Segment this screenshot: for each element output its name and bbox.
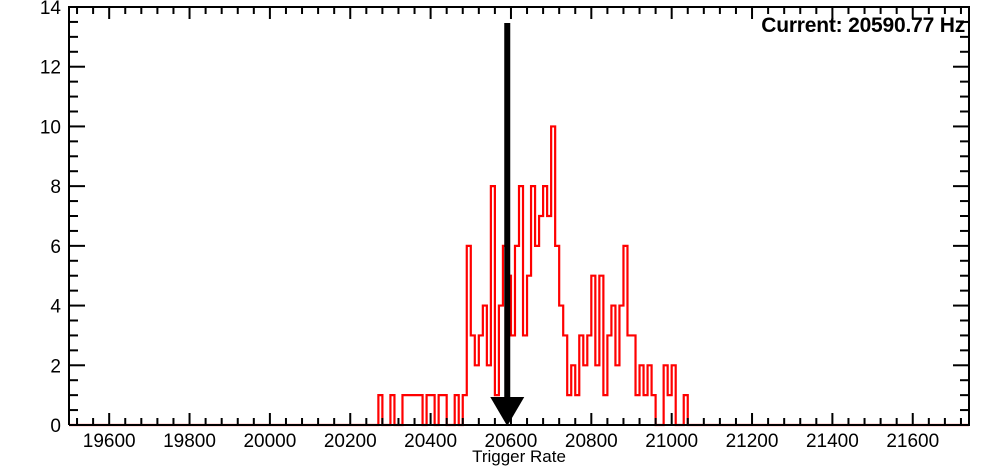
y-axis-tick-labels: 02468101214	[40, 0, 62, 437]
trigger-rate-histogram: 1960019800200002020020400206002080021000…	[0, 0, 996, 472]
x-tick-label: 20000	[243, 431, 296, 452]
histogram-canvas: 1960019800200002020020400206002080021000…	[0, 0, 996, 472]
y-tick-label: 0	[50, 416, 61, 437]
x-tick-label: 21200	[726, 431, 779, 452]
y-tick-label: 6	[50, 237, 61, 258]
y-tick-label: 8	[50, 177, 61, 198]
y-tick-label: 14	[40, 0, 62, 19]
x-tick-label: 20200	[324, 431, 377, 452]
y-tick-label: 2	[50, 356, 61, 377]
x-tick-label: 20800	[565, 431, 618, 452]
current-rate-label: Current: 20590.77 Hz	[761, 14, 965, 38]
x-tick-label: 21000	[645, 431, 698, 452]
y-tick-label: 10	[40, 117, 61, 138]
x-tick-label: 21400	[806, 431, 859, 452]
x-tick-label: 20400	[404, 431, 457, 452]
x-tick-label: 19800	[163, 431, 216, 452]
x-axis-title: Trigger Rate	[472, 447, 566, 466]
y-tick-label: 4	[50, 297, 61, 318]
histogram-series	[69, 126, 969, 425]
histogram-outline	[69, 126, 969, 425]
x-tick-label: 21600	[886, 431, 939, 452]
x-tick-label: 19600	[83, 431, 136, 452]
y-tick-label: 12	[40, 58, 61, 79]
